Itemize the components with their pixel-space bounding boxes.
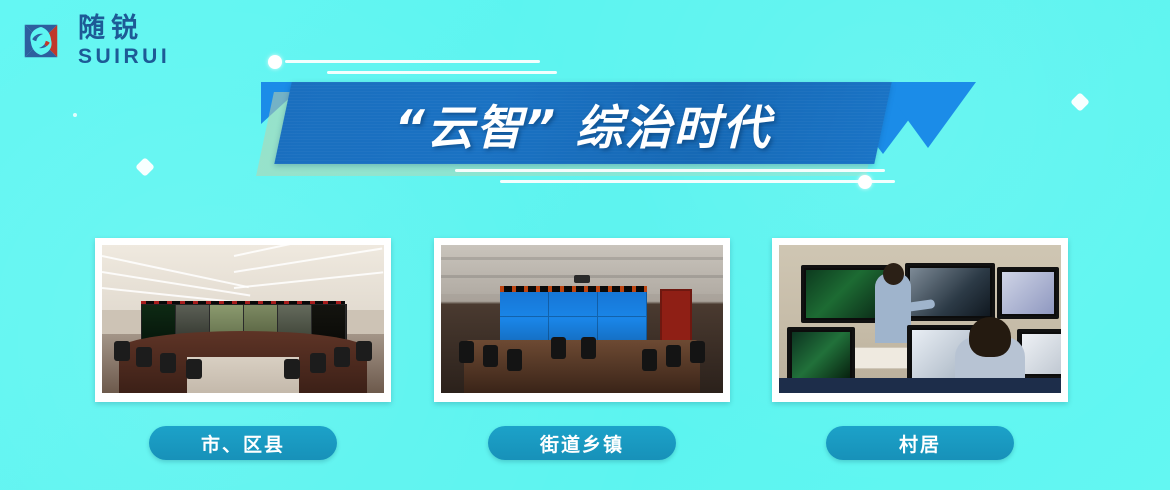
decor-line-top-2 bbox=[327, 71, 557, 74]
decor-diamond-left bbox=[135, 157, 155, 177]
category-card-row: 市、区县 bbox=[0, 238, 1170, 478]
village-monitoring-room-photo bbox=[779, 245, 1061, 393]
decor-line-bottom-1 bbox=[455, 169, 885, 172]
suirui-pinwheel-logo-icon bbox=[14, 14, 68, 68]
decor-dot-top-left bbox=[268, 55, 282, 69]
card-caption-city: 市、区县 bbox=[149, 426, 337, 460]
decor-line-bottom-2 bbox=[500, 180, 895, 183]
category-card-township[interactable]: 街道乡镇 bbox=[434, 238, 730, 402]
decor-diamond-right bbox=[1070, 92, 1090, 112]
decor-dot-bottom-right bbox=[858, 175, 872, 189]
decor-line-top-1 bbox=[285, 60, 540, 63]
brand-logo: 随锐 SUIRUI bbox=[14, 14, 170, 68]
photo-frame bbox=[772, 238, 1068, 402]
slide-canvas: 随锐 SUIRUI “云智” 综治时代 bbox=[0, 0, 1170, 490]
category-card-village[interactable]: 村居 bbox=[772, 238, 1068, 402]
brand-wordmark: 随锐 SUIRUI bbox=[78, 15, 170, 67]
card-caption-village: 村居 bbox=[826, 426, 1014, 460]
township-meeting-room-photo bbox=[441, 245, 723, 393]
category-card-city[interactable]: 市、区县 bbox=[95, 238, 391, 402]
title-banner: “云智” 综治时代 bbox=[255, 52, 955, 192]
photo-frame bbox=[95, 238, 391, 402]
conference-room-video-wall-photo bbox=[102, 245, 384, 393]
banner-band bbox=[274, 82, 891, 164]
brand-name-en: SUIRUI bbox=[78, 46, 170, 67]
decor-dot-small bbox=[73, 113, 77, 117]
photo-frame bbox=[434, 238, 730, 402]
card-caption-township: 街道乡镇 bbox=[488, 426, 676, 460]
banner-accent-triangle-right-light2 bbox=[880, 82, 976, 148]
brand-name-cn: 随锐 bbox=[78, 15, 170, 42]
